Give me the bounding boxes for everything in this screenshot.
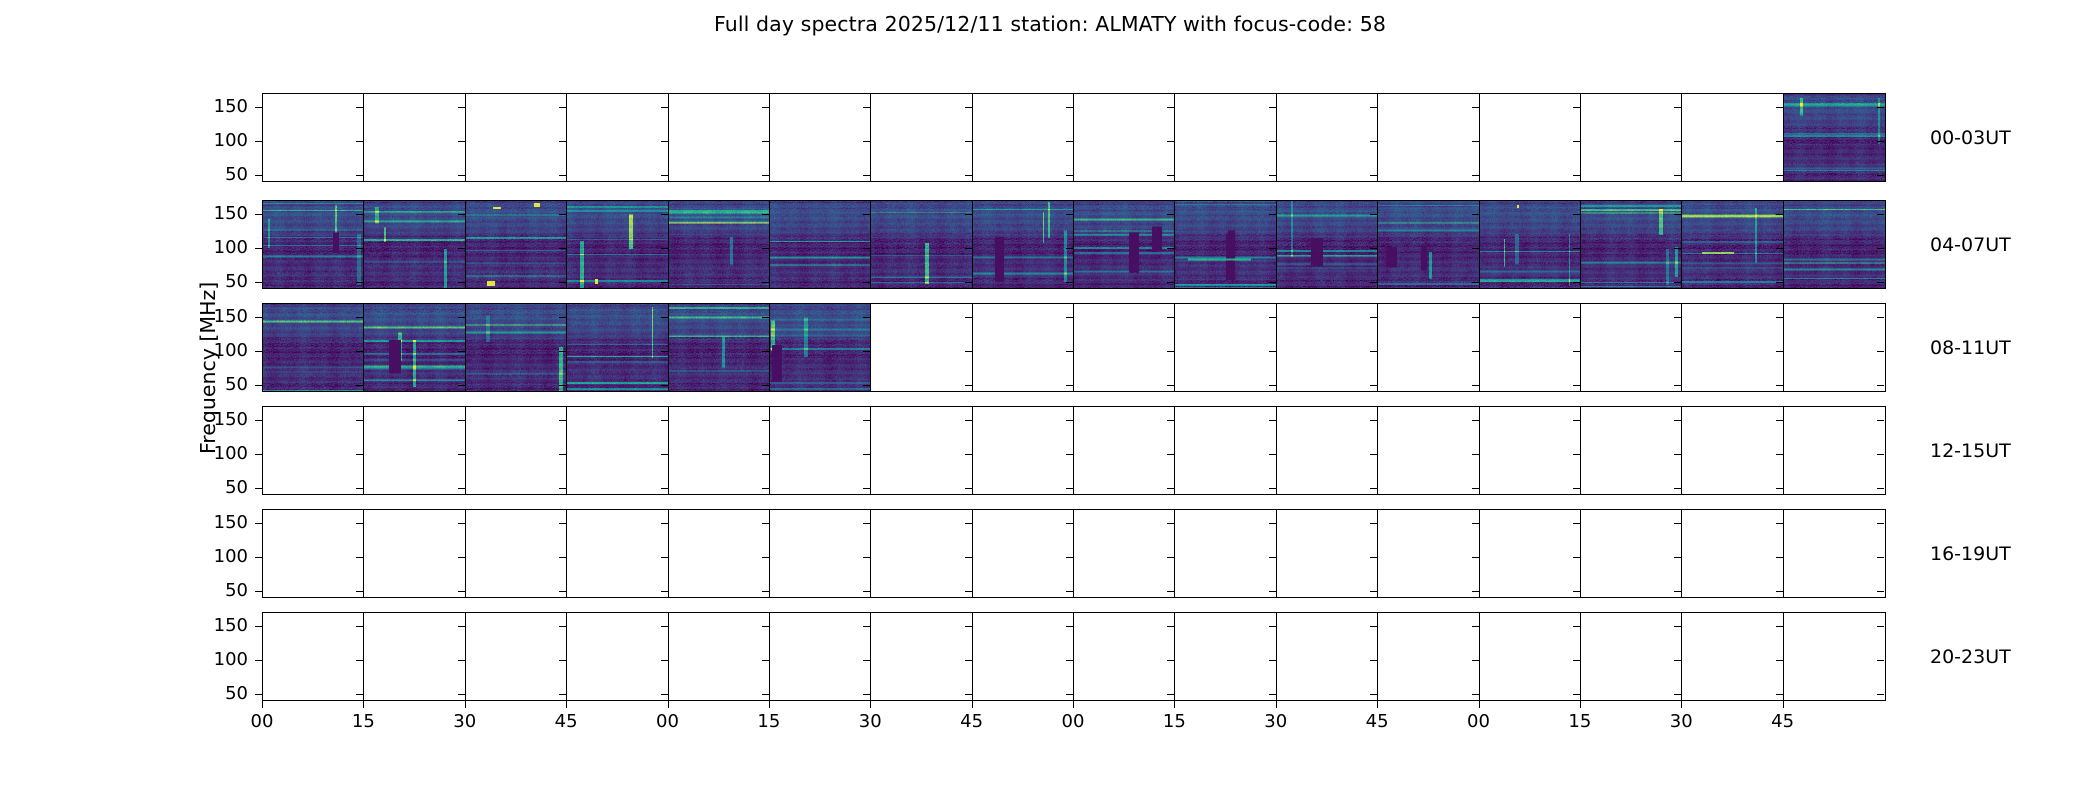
y-tick-mark xyxy=(356,107,363,108)
spectrogram-panel[interactable] xyxy=(465,200,568,289)
y-tick-mark xyxy=(1269,175,1276,176)
spectrogram-panel[interactable] xyxy=(363,509,466,598)
y-tick-mark xyxy=(458,557,465,558)
y-tick-mark xyxy=(1674,591,1681,592)
spectrogram-panel[interactable] xyxy=(972,200,1075,289)
y-tick-mark xyxy=(1370,175,1377,176)
spectrogram-panel[interactable] xyxy=(465,93,568,182)
y-tick-mark xyxy=(1167,175,1174,176)
spectrogram-panel[interactable] xyxy=(1174,303,1277,392)
spectrogram-panel[interactable] xyxy=(769,509,872,598)
y-tick-mark xyxy=(356,420,363,421)
y-tick-label: 100 xyxy=(192,340,248,361)
y-tick-mark xyxy=(1573,626,1580,627)
y-tick-mark xyxy=(1776,351,1783,352)
y-tick-mark xyxy=(1573,248,1580,249)
y-tick-mark xyxy=(1674,660,1681,661)
spectrogram-panel[interactable] xyxy=(972,303,1075,392)
y-tick-mark xyxy=(863,175,870,176)
spectrogram-panel[interactable] xyxy=(870,406,973,495)
spectrogram-panel[interactable] xyxy=(1580,509,1683,598)
spectrogram-panel[interactable] xyxy=(1681,406,1784,495)
y-tick-mark xyxy=(1776,626,1783,627)
y-tick-mark xyxy=(1066,591,1073,592)
y-tick-mark xyxy=(458,141,465,142)
x-tick-mark xyxy=(1681,701,1682,708)
spectrogram-panel[interactable] xyxy=(262,406,365,495)
spectrogram-panel[interactable] xyxy=(972,406,1075,495)
spectrogram-panel[interactable] xyxy=(1479,406,1582,495)
y-tick-label: 100 xyxy=(192,237,248,258)
spectrogram-panel[interactable] xyxy=(363,93,466,182)
y-tick-mark xyxy=(965,626,972,627)
y-tick-mark xyxy=(661,557,668,558)
spectrogram-image xyxy=(1277,201,1378,288)
y-tick-label: 150 xyxy=(192,409,248,430)
spectrogram-image xyxy=(770,304,871,391)
spectrogram-panel[interactable] xyxy=(566,406,669,495)
y-tick-mark xyxy=(863,454,870,455)
spectrogram-panel[interactable] xyxy=(1276,509,1379,598)
spectrogram-panel[interactable] xyxy=(1174,612,1277,701)
y-tick-mark xyxy=(1472,351,1479,352)
spectrogram-image xyxy=(1784,201,1885,288)
spectrogram-panel[interactable] xyxy=(1681,509,1784,598)
spectrogram-panel[interactable] xyxy=(1681,612,1784,701)
y-tick-mark xyxy=(458,248,465,249)
y-tick-mark xyxy=(559,282,566,283)
y-tick-mark xyxy=(458,385,465,386)
y-tick-mark xyxy=(1674,454,1681,455)
y-tick-mark xyxy=(1573,107,1580,108)
y-tick-mark xyxy=(762,282,769,283)
y-tick-mark xyxy=(1776,175,1783,176)
y-tick-mark xyxy=(1674,523,1681,524)
y-tick-mark xyxy=(1472,248,1479,249)
y-tick-mark xyxy=(1877,557,1884,558)
spectrogram-panel[interactable] xyxy=(363,612,466,701)
spectrogram-panel[interactable] xyxy=(1580,406,1683,495)
y-tick-label: 50 xyxy=(192,477,248,498)
spectrogram-panel[interactable] xyxy=(870,93,973,182)
y-tick-mark xyxy=(1167,248,1174,249)
y-tick-mark xyxy=(863,420,870,421)
y-tick-mark xyxy=(762,248,769,249)
spectrogram-panel[interactable] xyxy=(668,200,771,289)
y-tick-mark xyxy=(559,214,566,215)
x-tick-label: 30 xyxy=(435,711,495,732)
spectrogram-panel[interactable] xyxy=(1580,93,1683,182)
row-label-12-15ut: 12-15UT xyxy=(1930,440,2011,462)
y-tick-mark xyxy=(1066,694,1073,695)
figure-title: Full day spectra 2025/12/11 station: ALM… xyxy=(0,12,2100,36)
y-tick-mark xyxy=(1066,107,1073,108)
y-tick-mark xyxy=(1066,351,1073,352)
y-tick-mark xyxy=(1370,488,1377,489)
y-tick-label: 50 xyxy=(192,374,248,395)
y-tick-mark xyxy=(1877,282,1884,283)
spectrogram-panel[interactable] xyxy=(870,303,973,392)
y-tick-mark xyxy=(965,385,972,386)
y-tick-mark xyxy=(356,454,363,455)
spectrogram-panel[interactable] xyxy=(262,303,365,392)
spectrogram-panel[interactable] xyxy=(1681,93,1784,182)
y-tick-mark xyxy=(762,385,769,386)
y-tick-mark xyxy=(661,454,668,455)
y-tick-mark xyxy=(863,282,870,283)
y-tick-mark xyxy=(559,175,566,176)
spectrogram-panel[interactable] xyxy=(1174,406,1277,495)
spectrogram-row-16-19ut: 5010015016-19UT xyxy=(0,509,2100,598)
y-tick-mark xyxy=(1877,175,1884,176)
spectrogram-image xyxy=(1784,94,1885,181)
spectrogram-panel[interactable] xyxy=(668,509,771,598)
spectrogram-image xyxy=(466,201,567,288)
y-tick-mark xyxy=(458,626,465,627)
spectrogram-panel[interactable] xyxy=(1580,303,1683,392)
y-tick-mark xyxy=(863,488,870,489)
y-tick-mark xyxy=(1167,420,1174,421)
spectrogram-panel[interactable] xyxy=(668,406,771,495)
y-tick-mark xyxy=(1066,557,1073,558)
spectrogram-row-04-07ut: 5010015004-07UT xyxy=(0,200,2100,289)
x-tick-label: 15 xyxy=(1144,711,1204,732)
y-tick-mark xyxy=(1573,591,1580,592)
y-tick-mark xyxy=(356,214,363,215)
spectrogram-panel[interactable] xyxy=(465,612,568,701)
spectrogram-panel[interactable] xyxy=(1783,303,1886,392)
y-tick-mark xyxy=(356,248,363,249)
y-tick-mark xyxy=(1776,454,1783,455)
y-tick-mark xyxy=(965,454,972,455)
y-tick-mark xyxy=(1877,523,1884,524)
spectrogram-panel[interactable] xyxy=(1276,200,1379,289)
y-tick-mark xyxy=(1472,660,1479,661)
spectrogram-panel[interactable] xyxy=(1377,612,1480,701)
y-tick-mark xyxy=(965,175,972,176)
spectrogram-panel[interactable] xyxy=(1377,406,1480,495)
y-tick-mark xyxy=(458,317,465,318)
y-tick-mark xyxy=(863,523,870,524)
spectrogram-panel[interactable] xyxy=(363,200,466,289)
y-tick-mark xyxy=(1370,141,1377,142)
x-tick-mark xyxy=(870,701,871,708)
spectrogram-panel[interactable] xyxy=(566,93,669,182)
y-tick-mark xyxy=(1776,385,1783,386)
spectrogram-panel[interactable] xyxy=(1276,93,1379,182)
spectrogram-panel[interactable] xyxy=(1681,200,1784,289)
spectrogram-panel[interactable] xyxy=(1073,200,1176,289)
y-tick-mark xyxy=(1472,488,1479,489)
spectrogram-panel[interactable] xyxy=(972,612,1075,701)
y-tick-label: 150 xyxy=(192,512,248,533)
spectrogram-panel[interactable] xyxy=(1479,509,1582,598)
y-tick-mark xyxy=(255,214,262,215)
y-tick-mark xyxy=(1066,488,1073,489)
y-tick-mark xyxy=(1167,351,1174,352)
y-tick-mark xyxy=(1472,214,1479,215)
spectrogram-panel[interactable] xyxy=(1783,406,1886,495)
y-tick-mark xyxy=(356,660,363,661)
y-tick-mark xyxy=(1167,694,1174,695)
spectrogram-panel[interactable] xyxy=(262,93,365,182)
spectrogram-panel[interactable] xyxy=(1783,93,1886,182)
spectrogram-panel[interactable] xyxy=(1479,200,1582,289)
y-tick-label: 50 xyxy=(192,164,248,185)
x-tick-mark xyxy=(972,701,973,708)
spectrogram-panel[interactable] xyxy=(262,509,365,598)
x-tick-mark xyxy=(363,701,364,708)
y-tick-mark xyxy=(255,420,262,421)
y-tick-mark xyxy=(1776,317,1783,318)
y-tick-mark xyxy=(1472,591,1479,592)
spectrogram-panel[interactable] xyxy=(668,612,771,701)
spectrogram-panel[interactable] xyxy=(668,93,771,182)
y-tick-mark xyxy=(1269,557,1276,558)
y-tick-mark xyxy=(1674,282,1681,283)
spectrogram-row-12-15ut: 5010015012-15UT xyxy=(0,406,2100,495)
y-tick-mark xyxy=(1573,557,1580,558)
y-tick-mark xyxy=(965,660,972,661)
spectrogram-panel[interactable] xyxy=(769,406,872,495)
y-tick-mark xyxy=(1573,454,1580,455)
spectrogram-panel[interactable] xyxy=(870,612,973,701)
y-tick-label: 50 xyxy=(192,683,248,704)
spectrogram-panel[interactable] xyxy=(1276,303,1379,392)
spectrogram-image xyxy=(1378,201,1479,288)
spectrogram-image xyxy=(1581,201,1682,288)
y-tick-mark xyxy=(1776,591,1783,592)
y-tick-mark xyxy=(1269,660,1276,661)
spectrogram-panel[interactable] xyxy=(363,406,466,495)
spectrogram-panel[interactable] xyxy=(1479,612,1582,701)
spectrogram-panel[interactable] xyxy=(1479,93,1582,182)
y-tick-mark xyxy=(559,591,566,592)
y-tick-mark xyxy=(1776,420,1783,421)
y-tick-label: 150 xyxy=(192,203,248,224)
y-tick-mark xyxy=(863,351,870,352)
spectrogram-panel[interactable] xyxy=(870,509,973,598)
y-tick-label: 100 xyxy=(192,546,248,567)
spectrogram-panel[interactable] xyxy=(1073,406,1176,495)
row-label-20-23ut: 20-23UT xyxy=(1930,646,2011,668)
y-tick-mark xyxy=(559,420,566,421)
y-tick-mark xyxy=(1269,107,1276,108)
y-tick-mark xyxy=(356,626,363,627)
spectrogram-panel[interactable] xyxy=(972,93,1075,182)
spectrogram-panel[interactable] xyxy=(1783,200,1886,289)
y-tick-mark xyxy=(1167,488,1174,489)
spectrogram-image xyxy=(466,304,567,391)
y-tick-mark xyxy=(762,694,769,695)
y-tick-mark xyxy=(356,175,363,176)
y-tick-mark xyxy=(1269,351,1276,352)
x-tick-mark xyxy=(1073,701,1074,708)
spectrogram-panel[interactable] xyxy=(870,200,973,289)
y-tick-mark xyxy=(661,175,668,176)
y-tick-mark xyxy=(1877,141,1884,142)
y-tick-mark xyxy=(863,591,870,592)
y-tick-mark xyxy=(762,591,769,592)
y-tick-mark xyxy=(965,107,972,108)
y-tick-mark xyxy=(1776,488,1783,489)
y-tick-mark xyxy=(762,317,769,318)
y-tick-mark xyxy=(255,351,262,352)
spectrogram-panel[interactable] xyxy=(1276,612,1379,701)
y-tick-mark xyxy=(863,317,870,318)
y-tick-mark xyxy=(1066,282,1073,283)
y-tick-mark xyxy=(1370,107,1377,108)
spectrogram-panel[interactable] xyxy=(363,303,466,392)
y-tick-mark xyxy=(661,488,668,489)
y-tick-mark xyxy=(1776,660,1783,661)
y-tick-mark xyxy=(1066,454,1073,455)
x-tick-label: 45 xyxy=(536,711,596,732)
y-tick-mark xyxy=(1472,454,1479,455)
y-tick-mark xyxy=(1877,248,1884,249)
spectrogram-panel[interactable] xyxy=(1276,406,1379,495)
y-tick-mark xyxy=(1674,107,1681,108)
y-tick-mark xyxy=(965,591,972,592)
spectrogram-panel[interactable] xyxy=(1783,612,1886,701)
spectrogram-image xyxy=(770,201,871,288)
x-tick-mark xyxy=(1580,701,1581,708)
y-tick-mark xyxy=(1877,488,1884,489)
y-tick-mark xyxy=(1674,385,1681,386)
spectrogram-panel[interactable] xyxy=(1073,509,1176,598)
spectrogram-panel[interactable] xyxy=(1377,93,1480,182)
y-tick-mark xyxy=(965,141,972,142)
y-tick-label: 50 xyxy=(192,271,248,292)
spectrogram-panel[interactable] xyxy=(465,303,568,392)
y-tick-mark xyxy=(1877,107,1884,108)
y-tick-mark xyxy=(762,214,769,215)
y-tick-mark xyxy=(1472,282,1479,283)
y-tick-mark xyxy=(559,523,566,524)
row-label-08-11ut: 08-11UT xyxy=(1930,337,2011,359)
spectrogram-panel[interactable] xyxy=(1174,93,1277,182)
spectrogram-image xyxy=(669,201,770,288)
y-tick-mark xyxy=(356,282,363,283)
y-tick-mark xyxy=(965,214,972,215)
y-tick-mark xyxy=(762,351,769,352)
y-tick-mark xyxy=(458,175,465,176)
spectrogram-panel[interactable] xyxy=(566,612,669,701)
y-tick-label: 150 xyxy=(192,306,248,327)
spectrogram-panel[interactable] xyxy=(769,200,872,289)
spectrogram-panel[interactable] xyxy=(1580,612,1683,701)
y-tick-mark xyxy=(1370,420,1377,421)
spectrogram-panel[interactable] xyxy=(972,509,1075,598)
y-tick-mark xyxy=(1573,214,1580,215)
y-tick-mark xyxy=(863,385,870,386)
y-tick-mark xyxy=(1472,175,1479,176)
spectrogram-panel[interactable] xyxy=(1174,200,1277,289)
y-tick-mark xyxy=(255,488,262,489)
y-tick-mark xyxy=(255,454,262,455)
y-tick-mark xyxy=(1167,141,1174,142)
y-tick-mark xyxy=(1674,557,1681,558)
spectrogram-panel[interactable] xyxy=(1580,200,1683,289)
y-tick-mark xyxy=(1370,282,1377,283)
spectrogram-panel[interactable] xyxy=(465,509,568,598)
y-tick-mark xyxy=(255,248,262,249)
spectrogram-panel[interactable] xyxy=(1479,303,1582,392)
y-tick-mark xyxy=(356,385,363,386)
y-tick-mark xyxy=(1674,626,1681,627)
spectrogram-panel[interactable] xyxy=(566,303,669,392)
spectrogram-panel[interactable] xyxy=(262,612,365,701)
row-label-16-19ut: 16-19UT xyxy=(1930,543,2011,565)
y-tick-mark xyxy=(1370,385,1377,386)
y-tick-mark xyxy=(1674,694,1681,695)
y-tick-mark xyxy=(255,557,262,558)
y-tick-mark xyxy=(965,248,972,249)
spectrogram-panel[interactable] xyxy=(1681,303,1784,392)
y-tick-mark xyxy=(1573,141,1580,142)
spectrogram-panel[interactable] xyxy=(465,406,568,495)
spectrogram-panel[interactable] xyxy=(566,509,669,598)
x-tick-label: 00 xyxy=(1449,711,1509,732)
y-tick-mark xyxy=(1167,317,1174,318)
y-tick-label: 100 xyxy=(192,443,248,464)
y-tick-mark xyxy=(559,454,566,455)
y-tick-mark xyxy=(559,694,566,695)
spectrogram-panel[interactable] xyxy=(1073,93,1176,182)
spectrogram-panel[interactable] xyxy=(1073,303,1176,392)
y-tick-mark xyxy=(965,351,972,352)
spectrogram-panel[interactable] xyxy=(1073,612,1176,701)
y-tick-mark xyxy=(1776,694,1783,695)
spectrogram-image xyxy=(364,304,465,391)
y-tick-mark xyxy=(1269,141,1276,142)
y-tick-mark xyxy=(1472,317,1479,318)
spectrogram-image xyxy=(263,201,364,288)
spectrogram-panel[interactable] xyxy=(1174,509,1277,598)
y-tick-mark xyxy=(1877,660,1884,661)
x-tick-mark xyxy=(566,701,567,708)
y-tick-mark xyxy=(1877,454,1884,455)
spectrogram-panel[interactable] xyxy=(668,303,771,392)
y-tick-mark xyxy=(255,141,262,142)
y-tick-mark xyxy=(661,141,668,142)
spectrogram-panel[interactable] xyxy=(769,612,872,701)
x-tick-mark xyxy=(1276,701,1277,708)
spectrogram-image xyxy=(1480,201,1581,288)
y-tick-mark xyxy=(1269,248,1276,249)
y-tick-mark xyxy=(1472,694,1479,695)
y-tick-mark xyxy=(255,694,262,695)
y-tick-mark xyxy=(762,454,769,455)
spectrogram-panel[interactable] xyxy=(1377,303,1480,392)
spectrogram-panel[interactable] xyxy=(262,200,365,289)
spectrogram-panel[interactable] xyxy=(566,200,669,289)
y-tick-mark xyxy=(1674,488,1681,489)
y-tick-label: 100 xyxy=(192,649,248,670)
y-tick-mark xyxy=(1472,523,1479,524)
spectrogram-panel[interactable] xyxy=(769,93,872,182)
y-tick-mark xyxy=(559,488,566,489)
y-tick-mark xyxy=(1776,214,1783,215)
y-tick-mark xyxy=(1269,317,1276,318)
spectrogram-panel[interactable] xyxy=(1783,509,1886,598)
y-tick-mark xyxy=(1674,141,1681,142)
spectrogram-panel[interactable] xyxy=(1377,200,1480,289)
spectrogram-panel[interactable] xyxy=(1377,509,1480,598)
spectrogram-panel[interactable] xyxy=(769,303,872,392)
spectrogram-image xyxy=(1682,201,1783,288)
y-tick-mark xyxy=(1573,282,1580,283)
